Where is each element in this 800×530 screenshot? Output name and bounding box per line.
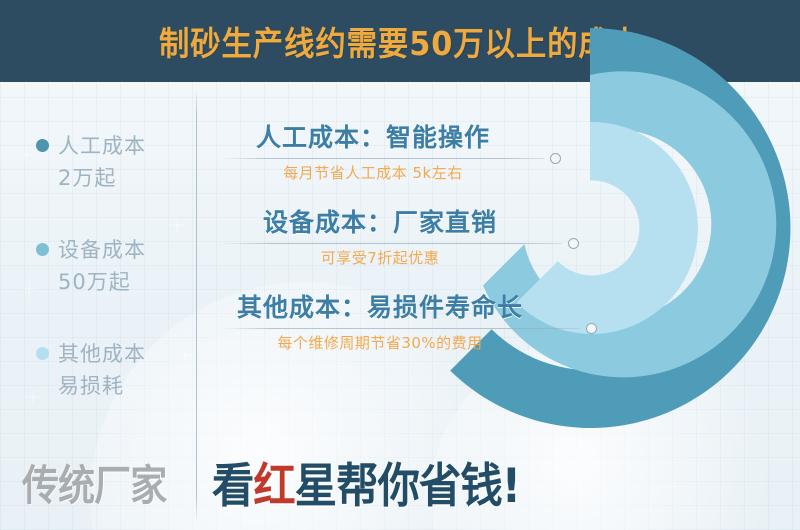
sidebar-item-value: 2万起: [58, 162, 188, 194]
main-benefit-list: 人工成本：智能操作 每月节省人工成本 5k左右 设备成本：厂家直销 可享受7折起…: [210, 118, 550, 373]
infographic-canvas: 制砂生产线约需要50万以上的成本: [0, 0, 800, 530]
benefit-item-other: 其他成本：易损件寿命长 每个维修周期节省30%的费用: [210, 288, 550, 373]
benefit-subtext: 可享受7折起优惠: [210, 247, 550, 268]
benefit-heading: 其他成本：易损件寿命长: [210, 288, 550, 324]
promo-prefix: 看: [212, 459, 253, 514]
sidebar-cost-list: 人工成本 2万起 设备成本 50万起 其他成本 易损耗: [28, 130, 188, 442]
sidebar-item-label: 设备成本: [58, 234, 188, 266]
benefit-connector-line: [222, 243, 562, 244]
connector-circle-icon: [568, 238, 579, 249]
benefit-heading: 设备成本：厂家直销: [210, 203, 550, 239]
benefit-connector-line: [222, 158, 544, 159]
benefit-connector-line: [222, 328, 580, 329]
bottom-label-traditional: 传统厂家: [22, 452, 166, 513]
benefit-subtext: 每月节省人工成本 5k左右: [210, 162, 550, 183]
sidebar-item-equipment: 设备成本 50万起: [28, 234, 188, 298]
sparkle-decor: [300, 412, 330, 442]
promo-highlight: 红: [253, 459, 294, 514]
bottom-label-promo: 看红星帮你省钱!: [212, 447, 520, 516]
promo-suffix: 星帮你省钱!: [295, 459, 520, 514]
benefit-heading: 人工成本：智能操作: [210, 118, 550, 154]
sidebar-item-label: 人工成本: [58, 130, 188, 162]
sidebar-item-labor: 人工成本 2万起: [28, 130, 188, 194]
connector-circle-icon: [550, 153, 561, 164]
vertical-divider: [196, 88, 197, 522]
benefit-subtext: 每个维修周期节省30%的费用: [210, 332, 550, 353]
benefit-item-labor: 人工成本：智能操作 每月节省人工成本 5k左右: [210, 118, 550, 203]
sidebar-item-value: 50万起: [58, 266, 188, 298]
sidebar-item-value: 易损耗: [58, 370, 188, 402]
connector-circle-icon: [586, 323, 597, 334]
sidebar-item-label: 其他成本: [58, 338, 188, 370]
benefit-item-equipment: 设备成本：厂家直销 可享受7折起优惠: [210, 203, 550, 288]
bullet-dot-icon: [36, 243, 49, 256]
bullet-dot-icon: [36, 347, 49, 360]
bullet-dot-icon: [36, 139, 49, 152]
sidebar-item-other: 其他成本 易损耗: [28, 338, 188, 402]
